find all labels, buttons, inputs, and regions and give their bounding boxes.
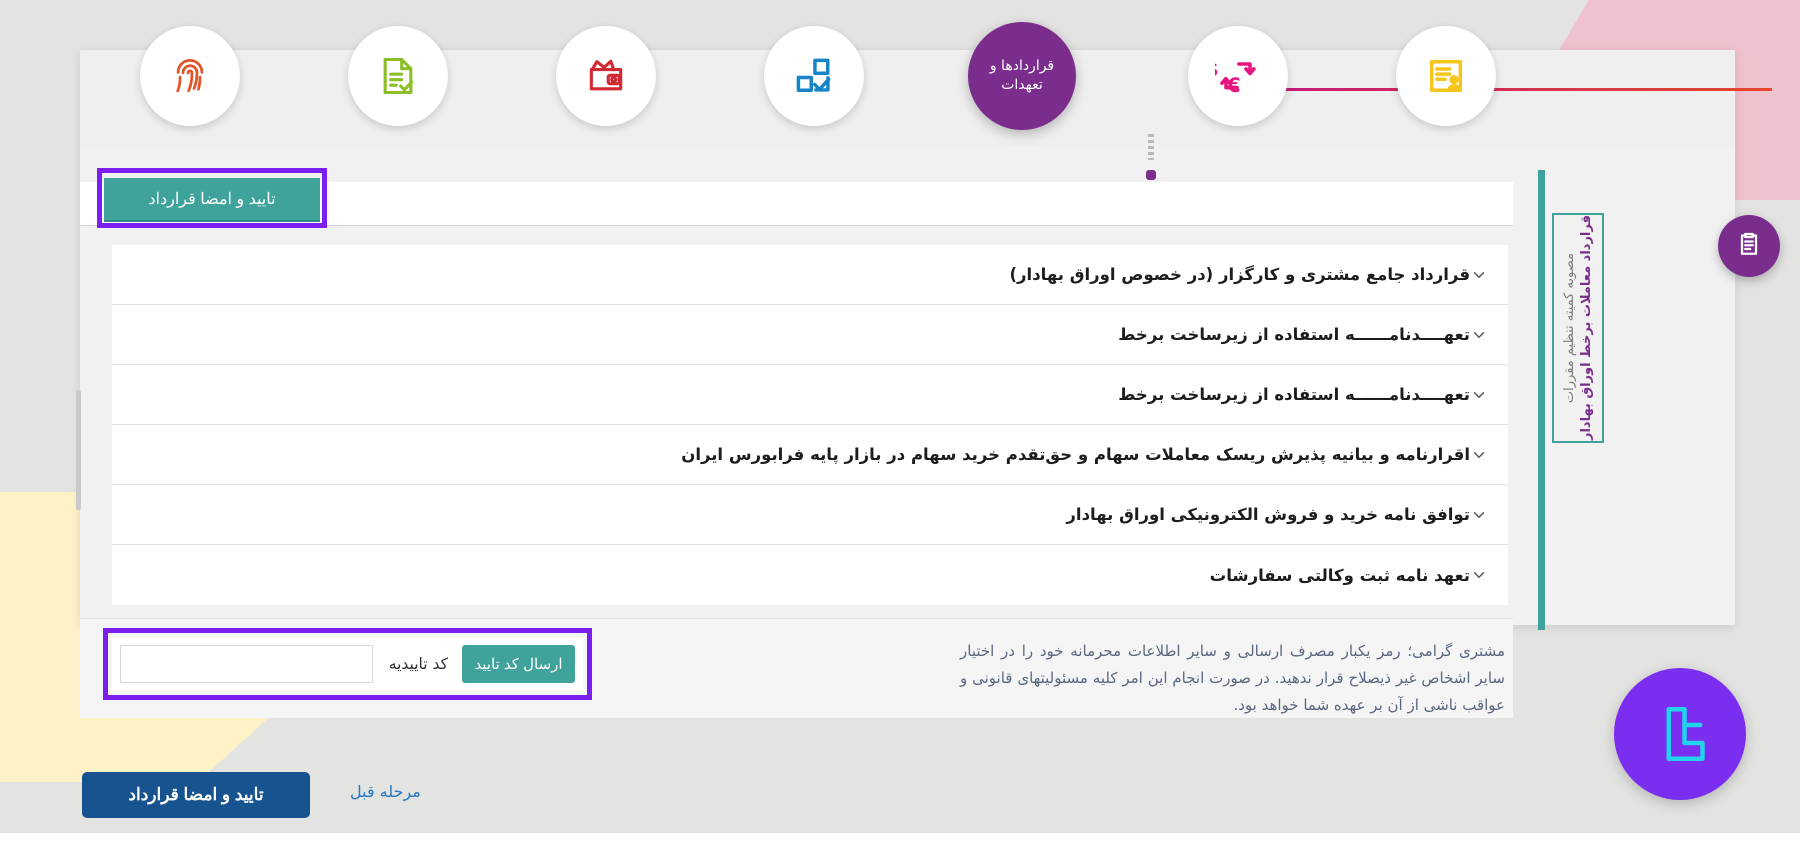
accordion-item-1[interactable]: قرارداد جامع مشتری و کارگزار (در خصوص او… <box>112 245 1508 305</box>
page-root: قراردادها و تعهدات $ € <box>0 0 1800 855</box>
accordion-item-6-title: تعهد نامه ثبت وکالتی سفارشات <box>132 566 1470 585</box>
chevron-down-icon[interactable] <box>1470 386 1488 404</box>
otp-security-note: مشتری گرامی؛ رمز یکبار مصرف ارسالی و سای… <box>960 638 1505 719</box>
ribbon-rail <box>1538 170 1545 630</box>
accordion-item-1-title: قرارداد جامع مشتری و کارگزار (در خصوص او… <box>132 265 1470 284</box>
svg-text:€: € <box>1226 74 1241 97</box>
accordion-item-6[interactable]: تعهد نامه ثبت وکالتی سفارشات <box>112 545 1508 605</box>
accordion-item-5[interactable]: توافق نامه خرید و فروش الکترونیکی اوراق … <box>112 485 1508 545</box>
ribbon-subtitle: مصوبه کمیته تنظیم مقررات <box>1563 253 1576 403</box>
accordion-item-2-title: تعهــــدنامــــــه استفاده از زیرساخت بر… <box>132 325 1470 344</box>
accordion-item-4-title: اقرارنامه و بیانیه پذیرش ریسک معاملات سه… <box>132 445 1470 464</box>
step-exchange[interactable]: $ € <box>1188 26 1288 126</box>
chevron-down-icon[interactable] <box>1470 326 1488 344</box>
decorative-bottom-strip <box>0 833 1800 855</box>
tab-confirm-sign-contract[interactable]: تایید و امضا قرارداد <box>104 178 320 222</box>
document-check-icon <box>376 54 420 98</box>
step-documents[interactable] <box>348 26 448 126</box>
chevron-down-icon[interactable] <box>1470 506 1488 524</box>
step-wallet[interactable] <box>556 26 656 126</box>
brand-logo <box>1614 668 1746 800</box>
chevron-down-icon[interactable] <box>1470 266 1488 284</box>
step-identity[interactable] <box>140 26 240 126</box>
footer-confirm-sign-contract-button[interactable]: تایید و امضا قرارداد <box>82 772 310 818</box>
accordion-item-4[interactable]: اقرارنامه و بیانیه پذیرش ریسک معاملات سه… <box>112 425 1508 485</box>
chevron-down-icon[interactable] <box>1470 446 1488 464</box>
page-scrollbar[interactable] <box>76 390 81 510</box>
accordion-item-3-title: تعهــــدنامــــــه استفاده از زیرساخت بر… <box>132 385 1470 404</box>
contracts-accordion: قرارداد جامع مشتری و کارگزار (در خصوص او… <box>112 245 1508 605</box>
footer-previous-step-link[interactable]: مرحله قبل <box>350 782 421 801</box>
otp-row: ارسال کد تایید کد تاییدیه <box>112 637 583 691</box>
accordion-item-2[interactable]: تعهــــدنامــــــه استفاده از زیرساخت بر… <box>112 305 1508 365</box>
brand-mark-icon <box>1644 698 1716 770</box>
step-services[interactable] <box>764 26 864 126</box>
accordion-item-5-title: توافق نامه خرید و فروش الکترونیکی اوراق … <box>132 505 1470 524</box>
chevron-down-icon[interactable] <box>1470 566 1488 584</box>
id-document-icon <box>1424 54 1468 98</box>
side-ribbon-contract-info[interactable]: قرارداد معاملات برخط اوراق بهادار مصوبه … <box>1552 213 1604 443</box>
currency-exchange-icon: $ € <box>1215 54 1261 98</box>
step-contracts-label: قراردادها و تعهدات <box>968 57 1076 95</box>
clipboard-fab-button[interactable] <box>1718 215 1780 277</box>
verification-code-input[interactable] <box>120 645 373 683</box>
wallet-icon <box>584 54 628 98</box>
step-profile[interactable] <box>1396 26 1496 126</box>
clipboard-icon <box>1734 229 1764 263</box>
squares-check-icon <box>792 54 836 98</box>
step-contracts[interactable]: قراردادها و تعهدات <box>968 22 1076 130</box>
send-verification-code-button[interactable]: ارسال کد تایید <box>462 645 575 683</box>
svg-text:$: $ <box>1215 58 1219 81</box>
fingerprint-icon <box>168 54 212 98</box>
accordion-item-3[interactable]: تعهــــدنامــــــه استفاده از زیرساخت بر… <box>112 365 1508 425</box>
verification-code-label: کد تاییدیه <box>389 655 448 673</box>
ribbon-title: قرارداد معاملات برخط اوراق بهادار <box>1580 215 1593 440</box>
